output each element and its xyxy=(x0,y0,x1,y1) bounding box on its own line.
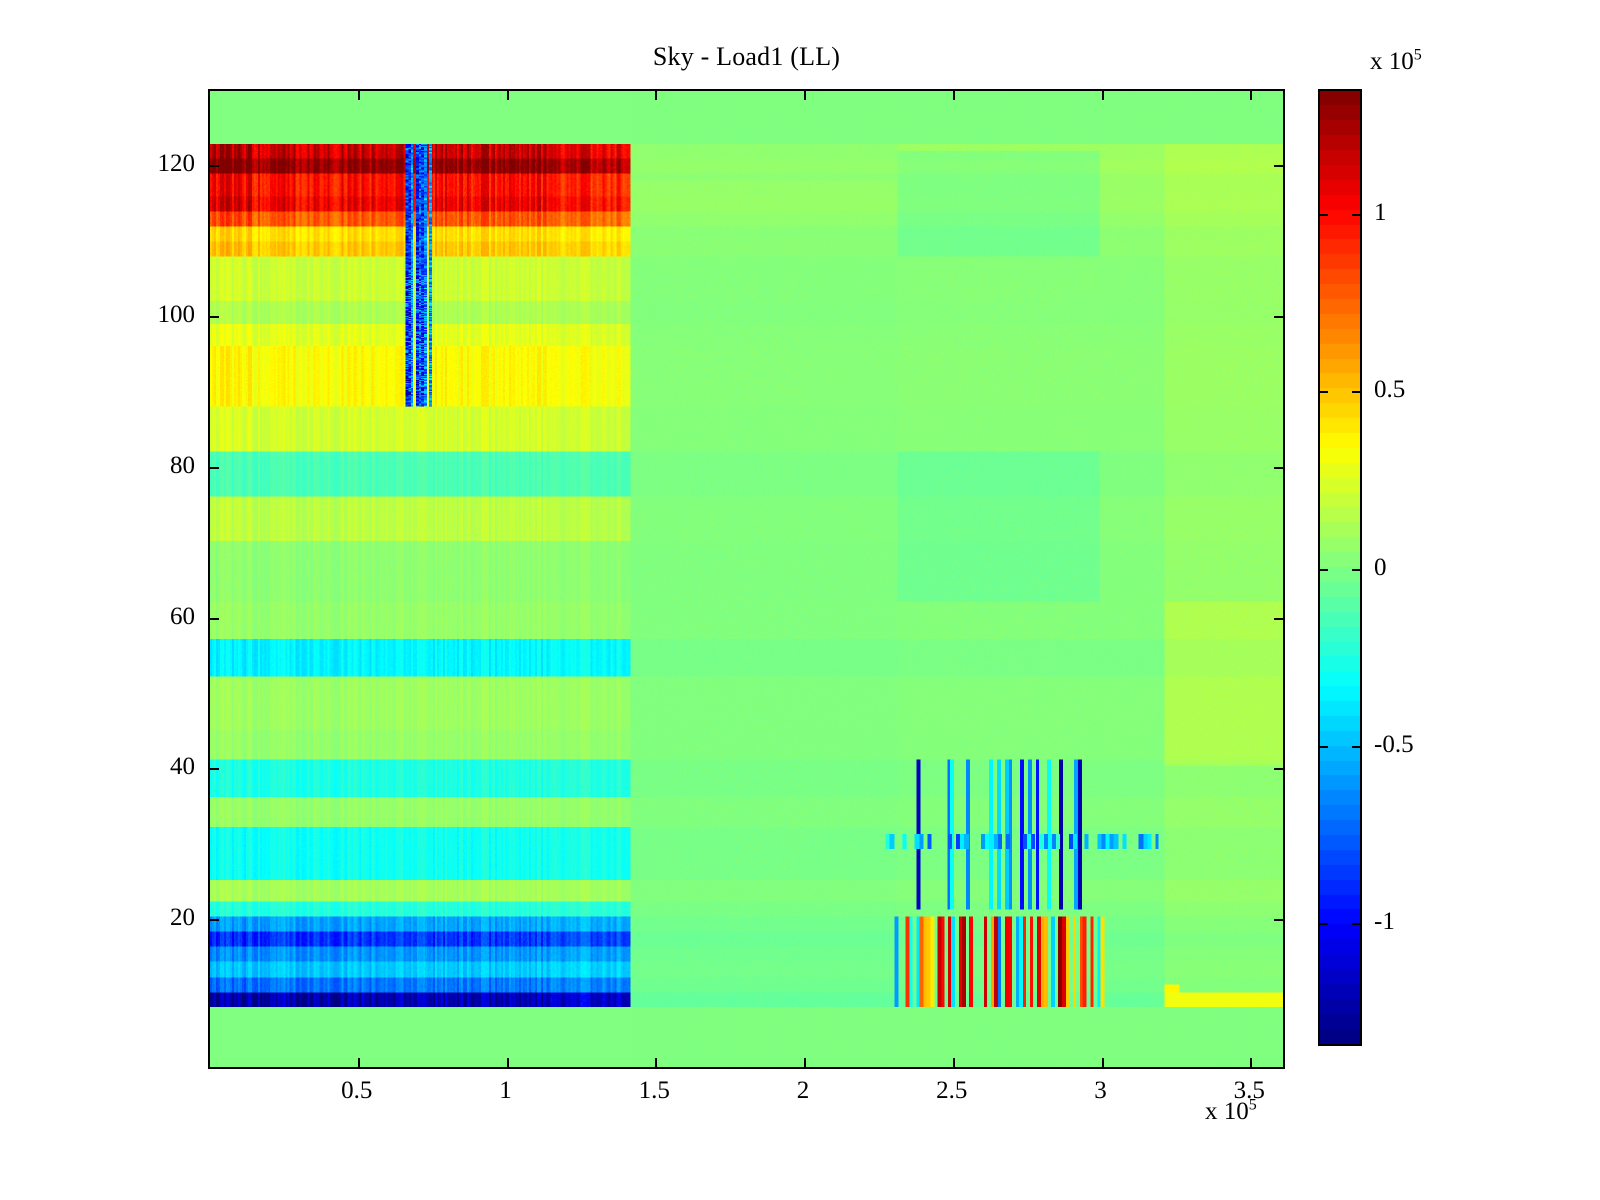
y-tick-left xyxy=(210,316,219,318)
x-tick-top xyxy=(1250,91,1252,100)
y-tick-right xyxy=(1274,618,1283,620)
colorbar-gradient xyxy=(1320,91,1360,1044)
y-tick-label: 100 xyxy=(113,301,195,329)
x-exponent-text: x 10 xyxy=(1205,1098,1249,1125)
colorbar-tick-label: 0.5 xyxy=(1374,376,1405,404)
x-tick-top xyxy=(655,91,657,100)
colorbar-tick-right xyxy=(1352,214,1360,216)
x-tick-top xyxy=(1102,91,1104,100)
colorbar-tick-label: -0.5 xyxy=(1374,731,1414,759)
x-tick-label: 2 xyxy=(797,1077,810,1105)
x-tick-bottom xyxy=(655,1058,657,1067)
y-tick-label: 60 xyxy=(113,603,195,631)
matlab-figure: Sky - Load1 (LL) 0.511.522.533.512010080… xyxy=(0,0,1600,1200)
colorbar-tick-label: 1 xyxy=(1374,199,1387,227)
x-tick-top xyxy=(358,91,360,100)
y-tick-left xyxy=(210,768,219,770)
x-tick-top xyxy=(953,91,955,100)
colorbar-exponent-text: x 10 xyxy=(1370,48,1414,75)
y-tick-label: 20 xyxy=(113,904,195,932)
x-tick-label: 1.5 xyxy=(639,1077,670,1105)
y-tick-label: 40 xyxy=(113,753,195,781)
colorbar-tick-left xyxy=(1320,746,1328,748)
colorbar-tick-left xyxy=(1320,923,1328,925)
colorbar-tick-left xyxy=(1320,569,1328,571)
x-tick-bottom xyxy=(358,1058,360,1067)
colorbar-tick-left xyxy=(1320,391,1328,393)
colorbar-tick-right xyxy=(1352,391,1360,393)
y-tick-right xyxy=(1274,165,1283,167)
figure-title: Sky - Load1 (LL) xyxy=(208,42,1285,72)
colorbar-tick-right xyxy=(1352,746,1360,748)
colorbar-tick-label: -1 xyxy=(1374,908,1395,936)
x-tick-bottom xyxy=(1102,1058,1104,1067)
x-tick-label: 2.5 xyxy=(936,1077,967,1105)
colorbar-tick-left xyxy=(1320,214,1328,216)
x-tick-bottom xyxy=(804,1058,806,1067)
x-tick-bottom xyxy=(1250,1058,1252,1067)
colorbar[interactable] xyxy=(1318,89,1362,1046)
y-tick-left xyxy=(210,165,219,167)
x-axis-exponent-label: x 105 xyxy=(1205,1098,1257,1126)
x-tick-label: 3 xyxy=(1094,1077,1107,1105)
y-tick-left xyxy=(210,618,219,620)
colorbar-tick-right xyxy=(1352,923,1360,925)
x-tick-top xyxy=(507,91,509,100)
y-tick-right xyxy=(1274,316,1283,318)
x-tick-label: 1 xyxy=(499,1077,512,1105)
y-tick-left xyxy=(210,467,219,469)
colorbar-exponent-power: 5 xyxy=(1414,47,1422,64)
heatmap-axes xyxy=(208,89,1285,1069)
colorbar-exponent-label: x 105 xyxy=(1370,48,1422,76)
y-tick-right xyxy=(1274,919,1283,921)
colorbar-tick-right xyxy=(1352,569,1360,571)
x-tick-top xyxy=(804,91,806,100)
y-tick-left xyxy=(210,919,219,921)
heatmap-image xyxy=(210,91,1283,1067)
x-tick-bottom xyxy=(953,1058,955,1067)
y-tick-label: 120 xyxy=(113,150,195,178)
y-tick-right xyxy=(1274,467,1283,469)
y-tick-label: 80 xyxy=(113,452,195,480)
x-exponent-power: 5 xyxy=(1249,1097,1257,1114)
y-tick-right xyxy=(1274,768,1283,770)
x-tick-bottom xyxy=(507,1058,509,1067)
x-tick-label: 0.5 xyxy=(341,1077,372,1105)
colorbar-tick-label: 0 xyxy=(1374,554,1387,582)
